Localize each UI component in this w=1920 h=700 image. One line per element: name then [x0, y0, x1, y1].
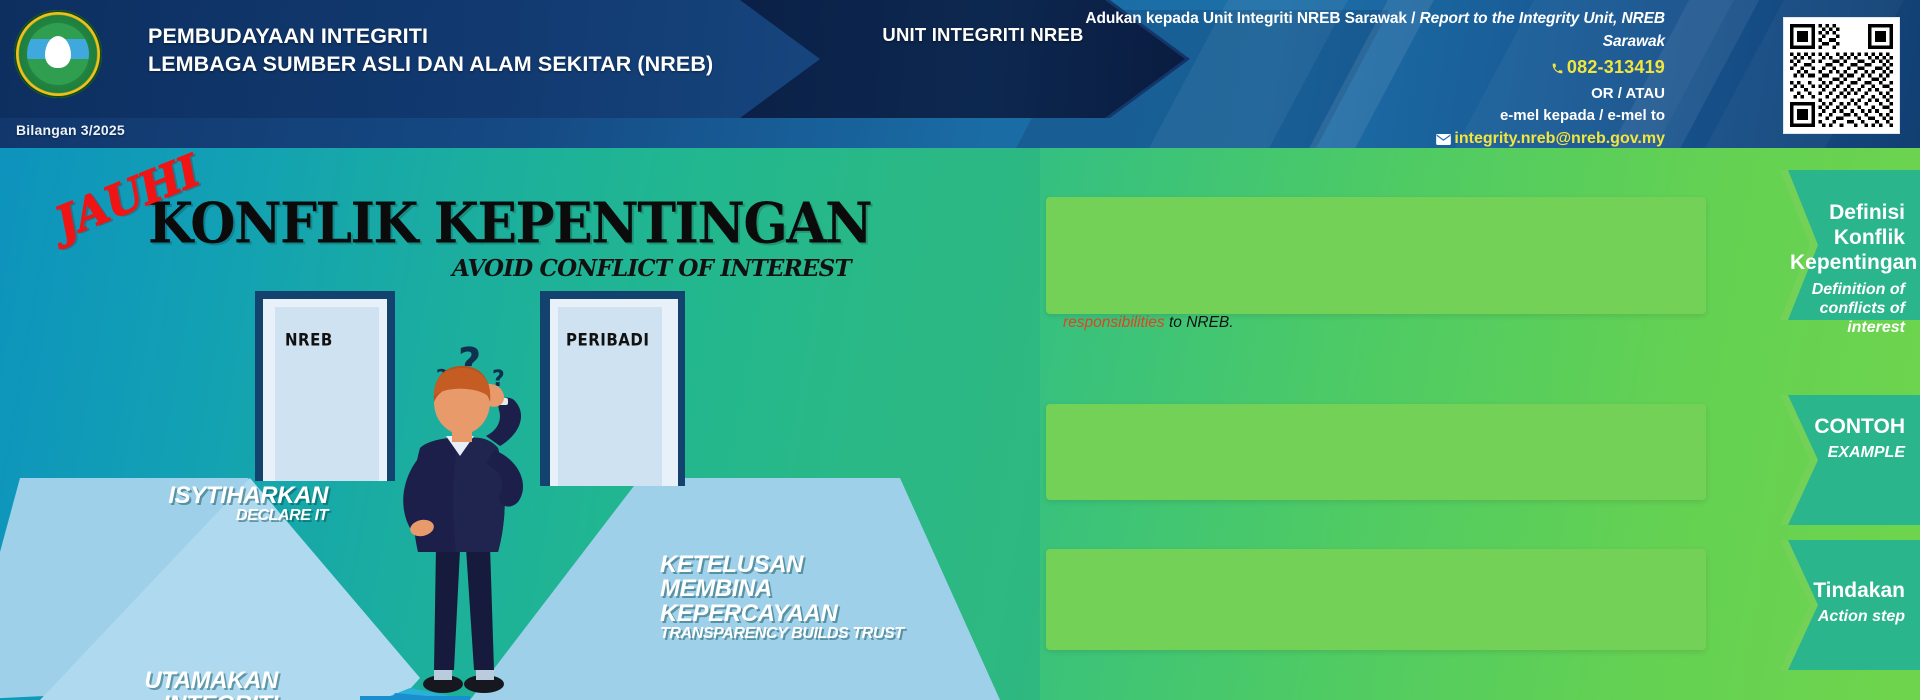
panel-examples — [1046, 404, 1706, 500]
label-integrity-ms: UTAMAKAN INTEGRITI — [28, 669, 278, 700]
tab-action-ms: Tindakan — [1790, 578, 1905, 603]
contact-report-en: Report to the Integrity Unit, NREB Saraw… — [1420, 10, 1665, 50]
label-declare-en: DECLARE IT — [108, 508, 328, 525]
page-title: KONFLIK KEPENTINGAN — [148, 196, 871, 252]
label-integrity-first: UTAMAKAN INTEGRITI INTEGRITY FIRST — [28, 669, 278, 700]
tab-definition-ms: Definisi Konflik Kepentingan — [1790, 200, 1905, 276]
label-declare-ms: ISYTIHARKAN — [108, 484, 328, 508]
phone-icon — [1551, 56, 1564, 83]
panel-definition — [1046, 197, 1706, 314]
org-title-line2: LEMBAGA SUMBER ASLI DAN ALAM SEKITAR (NR… — [148, 50, 713, 78]
nreb-logo — [14, 10, 102, 98]
panel-action — [1046, 549, 1706, 650]
label-transparency: KETELUSAN MEMBINA KEPERCAYAAN TRANSPAREN… — [660, 553, 910, 643]
contact-block: Adukan kepada Unit Integriti NREB Sarawa… — [1025, 8, 1665, 148]
mail-icon — [1436, 129, 1451, 148]
contact-phone-line[interactable]: 082-313419 — [1025, 54, 1665, 83]
contact-phone: 082-313419 — [1567, 57, 1665, 77]
tab-example[interactable]: CONTOH EXAMPLE — [1790, 414, 1905, 462]
hand-icon — [45, 36, 71, 68]
organisation-title: PEMBUDAYAAN INTEGRITI LEMBAGA SUMBER ASL… — [148, 22, 713, 79]
tab-example-en: EXAMPLE — [1790, 443, 1905, 462]
contact-report-line: Adukan kepada Unit Integriti NREB Sarawa… — [1025, 8, 1665, 54]
label-declare-it: ISYTIHARKAN DECLARE IT — [108, 484, 328, 525]
tab-definition[interactable]: Definisi Konflik Kepentingan Definition … — [1790, 200, 1905, 337]
businessman-illustration: ? ? ? — [348, 336, 598, 700]
page-subtitle: AVOID CONFLICT OF INTEREST — [452, 255, 851, 282]
tab-action[interactable]: Tindakan Action step — [1790, 578, 1905, 626]
tab-action-en: Action step — [1790, 607, 1905, 626]
label-transparency-en: TRANSPARENCY BUILDS TRUST — [660, 626, 910, 643]
qr-code[interactable] — [1783, 17, 1900, 134]
issue-number: Bilangan 3/2025 — [16, 122, 125, 138]
logo-inner-disc — [27, 23, 89, 85]
definition-en-part3: to NREB. — [1165, 314, 1234, 331]
contact-separator: / — [1411, 10, 1415, 27]
contact-email: integrity.nreb@nreb.gov.my — [1454, 130, 1665, 147]
poster-header: PEMBUDAYAAN INTEGRITI LEMBAGA SUMBER ASL… — [0, 0, 1920, 148]
infographic-poster: PEMBUDAYAAN INTEGRITI LEMBAGA SUMBER ASL… — [0, 0, 1920, 700]
org-title-line1: PEMBUDAYAAN INTEGRITI — [148, 22, 713, 50]
contact-email-label: e-mel kepada / e-mel to — [1025, 105, 1665, 127]
contact-email-line[interactable]: integrity.nreb@nreb.gov.my — [1025, 127, 1665, 148]
label-transparency-ms: KETELUSAN MEMBINA KEPERCAYAAN — [660, 553, 910, 626]
contact-or: OR / ATAU — [1025, 83, 1665, 105]
door-label-nreb: NREB — [285, 330, 333, 350]
tab-example-ms: CONTOH — [1790, 414, 1905, 439]
tab-definition-en: Definition of conflicts of interest — [1790, 280, 1905, 338]
contact-report-ms: Adukan kepada Unit Integriti NREB Sarawa… — [1085, 10, 1406, 27]
